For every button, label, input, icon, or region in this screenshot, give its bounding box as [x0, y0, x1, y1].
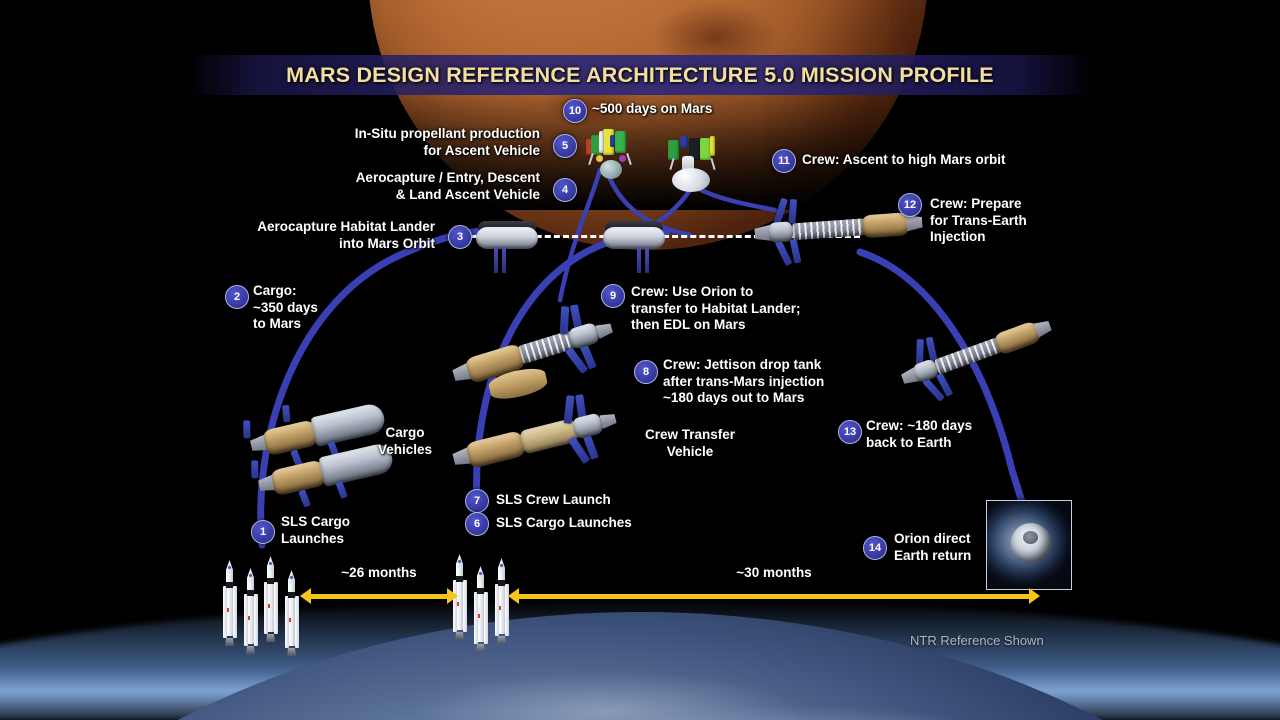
isru-tank-green2 — [615, 131, 626, 153]
isru-tank-white — [599, 131, 604, 153]
step-badge-8[interactable]: 8 — [634, 360, 658, 384]
isru-tank-blue — [680, 136, 688, 148]
sls-booster-right — [484, 592, 488, 644]
propellant-tank — [465, 430, 526, 469]
cargo-vehicles-label: Cargo Vehicles — [360, 425, 450, 458]
sls-rocket — [243, 568, 258, 654]
step-label-11: Crew: Ascent to high Mars orbit — [802, 152, 1006, 169]
aeroshell-body — [476, 227, 538, 249]
timeline-label-26-months: ~26 months — [300, 565, 458, 580]
solar-panel — [298, 489, 311, 507]
sls-engines — [225, 638, 234, 646]
orion-capsule-module — [567, 322, 600, 350]
sls-booster-right — [295, 596, 299, 648]
sls-booster-right — [254, 594, 258, 646]
sls-engines — [287, 648, 296, 656]
sls-rocket — [263, 556, 278, 642]
nasa-insignia — [500, 564, 503, 567]
sls-rocket — [494, 558, 509, 644]
step-badge-13[interactable]: 13 — [838, 420, 862, 444]
solar-panel — [251, 460, 258, 478]
sls-interstage — [288, 592, 295, 598]
step-badge-10[interactable]: 10 — [563, 99, 587, 123]
sls-engines — [455, 632, 464, 640]
nasa-insignia — [228, 566, 231, 569]
isru-tank-yellow — [710, 136, 715, 156]
sls-engines — [266, 634, 275, 642]
step-badge-6[interactable]: 6 — [465, 512, 489, 536]
truss-section — [518, 330, 575, 364]
step-label-4: Aerocapture / Entry, Descent & Land Asce… — [300, 170, 540, 203]
nasa-insignia — [249, 574, 252, 577]
sls-interstage — [477, 588, 484, 594]
solar-panel — [926, 337, 938, 362]
page-title: MARS DESIGN REFERENCE ARCHITECTURE 5.0 M… — [286, 63, 994, 88]
nasa-insignia — [458, 560, 461, 563]
crew-transfer-vehicle-return — [894, 300, 1067, 417]
step-label-9: Crew: Use Orion to transfer to Habitat L… — [631, 284, 861, 334]
lander-descent-tank — [600, 160, 622, 179]
step-label-10: ~500 days on Mars — [592, 101, 712, 118]
arrow-shaft — [517, 594, 1031, 599]
ascent-vehicle-lander-right — [666, 136, 718, 194]
solar-panel — [335, 481, 348, 499]
step-badge-12[interactable]: 12 — [898, 193, 922, 217]
sls-rocket — [284, 570, 299, 656]
sls-engines — [497, 636, 506, 644]
title-banner: MARS DESIGN REFERENCE ARCHITECTURE 5.0 M… — [186, 55, 1094, 95]
step-badge-7[interactable]: 7 — [465, 489, 489, 513]
step-label-8: Crew: Jettison drop tank after trans-Mar… — [663, 357, 893, 407]
nasa-insignia — [269, 562, 272, 565]
sls-booster-left — [285, 596, 289, 648]
habitat-lander-aeroshell-1 — [476, 221, 538, 271]
nasa-insignia — [290, 576, 293, 579]
habitat-lander-aeroshell-2 — [603, 221, 665, 271]
solar-panel — [790, 239, 802, 264]
isru-sphere-purple — [619, 155, 626, 162]
solar-panel — [560, 306, 569, 334]
ntr-reference-note: NTR Reference Shown — [910, 633, 1044, 648]
sls-booster-left — [244, 594, 248, 646]
timeline-arrow-26-months — [300, 588, 458, 604]
arrow-head-right — [1029, 588, 1040, 604]
propellant-tank — [862, 212, 909, 238]
sls-booster-left — [474, 592, 478, 644]
timeline-label-30-months: ~30 months — [508, 565, 1040, 580]
step-label-1: SLS Cargo Launches — [281, 514, 350, 547]
solar-panel — [243, 420, 250, 438]
lander-descent-tank — [672, 168, 710, 192]
sls-interstage — [267, 578, 274, 584]
sls-rocket — [473, 566, 488, 652]
solar-panel — [788, 199, 797, 223]
step-badge-2[interactable]: 2 — [225, 285, 249, 309]
sls-marking — [248, 616, 250, 620]
step-badge-3[interactable]: 3 — [448, 225, 472, 249]
sls-cargo-rocket-group — [222, 552, 302, 644]
sls-interstage — [498, 580, 505, 586]
step-badge-4[interactable]: 4 — [553, 178, 577, 202]
sls-booster-right — [274, 582, 278, 634]
step-badge-5[interactable]: 5 — [553, 134, 577, 158]
step-label-6: SLS Cargo Launches — [496, 515, 632, 532]
solar-panel — [282, 405, 290, 423]
solar-panel — [564, 395, 575, 424]
aeroshell-leg-1 — [637, 247, 641, 273]
sls-rocket — [222, 560, 237, 646]
step-label-5: In-Situ propellant production for Ascent… — [300, 126, 540, 159]
crew-transfer-label: Crew Transfer Vehicle — [625, 427, 755, 460]
step-label-2: Cargo: ~350 days to Mars — [253, 283, 318, 333]
step-badge-1[interactable]: 1 — [251, 520, 275, 544]
sls-booster-right — [463, 580, 467, 632]
sls-marking — [227, 608, 229, 612]
sls-engines — [476, 644, 485, 652]
isru-sphere-yellow — [596, 155, 603, 162]
sls-interstage — [247, 590, 254, 596]
sls-marking — [289, 618, 291, 622]
step-badge-11[interactable]: 11 — [772, 149, 796, 173]
sls-booster-left — [223, 586, 227, 638]
timeline-arrow-30-months — [508, 588, 1040, 604]
sls-interstage — [226, 582, 233, 588]
isru-tank-green — [668, 140, 679, 160]
sls-booster-left — [495, 584, 499, 636]
arrow-shaft — [309, 594, 449, 599]
ascent-vehicle-lander-left — [586, 129, 634, 185]
step-label-12: Crew: Prepare for Trans-Earth Injection — [930, 196, 1080, 246]
sls-booster-left — [264, 582, 268, 634]
aeroshell-leg-1 — [494, 247, 498, 273]
step-label-7: SLS Crew Launch — [496, 492, 611, 509]
sls-crew-rocket-group — [452, 548, 514, 644]
sls-booster-right — [233, 586, 237, 638]
mission-profile-diagram: MARS DESIGN REFERENCE ARCHITECTURE 5.0 M… — [0, 0, 1280, 720]
orion-capsule-module — [571, 412, 603, 439]
step-label-13: Crew: ~180 days back to Earth — [866, 418, 1026, 451]
truss-section — [792, 218, 865, 240]
isru-tank-blue — [610, 135, 615, 147]
step-badge-14[interactable]: 14 — [863, 536, 887, 560]
orion-capsule-module — [768, 221, 793, 243]
aeroshell-body — [603, 227, 665, 249]
nasa-insignia — [479, 572, 482, 575]
step-label-14: Orion direct Earth return — [894, 531, 1014, 564]
sls-marking — [499, 606, 501, 610]
arrow-head-right — [447, 588, 458, 604]
aeroshell-leg-2 — [502, 247, 506, 273]
sls-marking — [478, 614, 480, 618]
sls-engines — [246, 646, 255, 654]
step-label-3: Aerocapture Habitat Lander into Mars Orb… — [185, 219, 435, 252]
orion-docking-hatch — [1023, 531, 1038, 544]
truss-section — [934, 337, 1001, 375]
aeroshell-leg-2 — [645, 247, 649, 273]
step-badge-9[interactable]: 9 — [601, 284, 625, 308]
sls-marking — [268, 604, 270, 608]
